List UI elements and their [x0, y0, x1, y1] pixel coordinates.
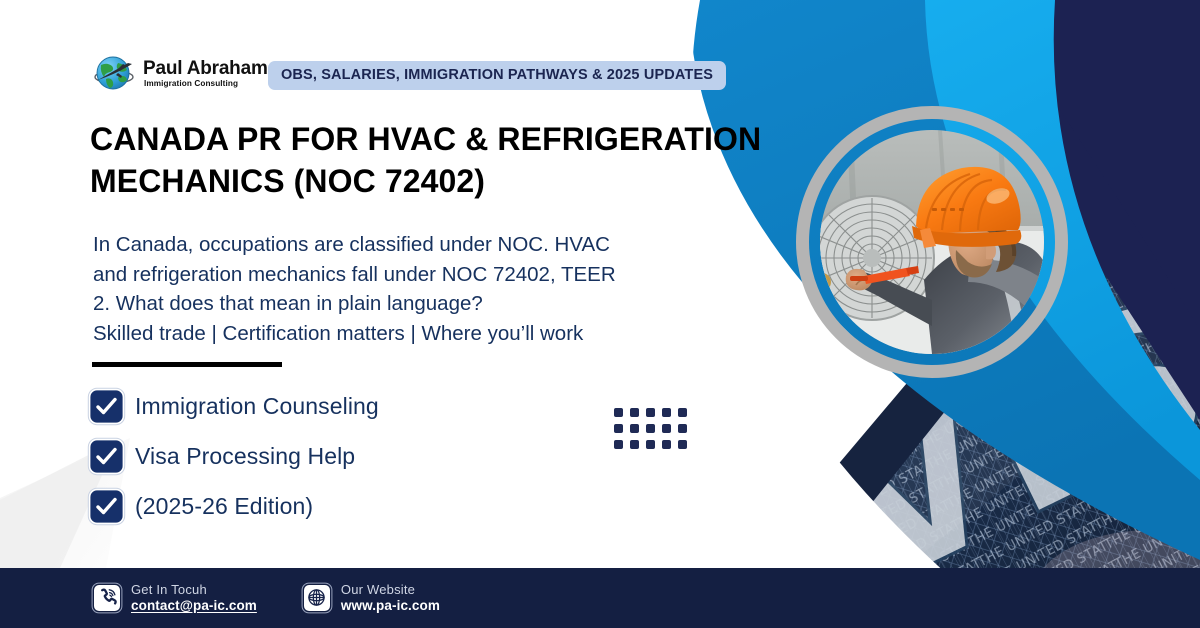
description-text: In Canada, occupations are classified un…: [93, 230, 733, 348]
footer-website-label: Our Website: [341, 583, 440, 598]
feature-checklist: Immigration Counseling Visa Processing H…: [92, 382, 379, 532]
brand-logo[interactable]: Paul Abraham Immigration Consulting: [92, 50, 268, 98]
list-item-label: Immigration Counseling: [135, 393, 379, 420]
phone-icon: [94, 585, 120, 611]
topic-badge-label: OBS, SALARIES, IMMIGRATION PATHWAYS & 20…: [281, 67, 713, 83]
topic-badge: OBS, SALARIES, IMMIGRATION PATHWAYS & 20…: [268, 61, 726, 90]
list-item[interactable]: Immigration Counseling: [92, 382, 379, 431]
globe-airplane-icon: [92, 52, 136, 96]
footer-website-url[interactable]: www.pa-ic.com: [341, 598, 440, 614]
brand-tagline: Immigration Consulting: [144, 80, 268, 88]
footer-contact-email[interactable]: contact@pa-ic.com: [131, 598, 257, 614]
list-item[interactable]: Visa Processing Help: [92, 432, 379, 481]
list-item-label: Visa Processing Help: [135, 443, 355, 470]
social-banner: THE UNITED STATES OF AMERICA: [0, 0, 1200, 628]
footer-contact[interactable]: Get In Tocuh contact@pa-ic.com: [94, 583, 257, 613]
dot-grid-decoration: [614, 408, 690, 452]
footer-contact-label: Get In Tocuh: [131, 583, 257, 598]
check-icon: [92, 392, 121, 421]
check-icon: [92, 492, 121, 521]
section-divider: [92, 362, 282, 367]
hero-photo: [820, 130, 1044, 354]
list-item-label: (2025-26 Edition): [135, 493, 313, 520]
check-icon: [92, 442, 121, 471]
brand-name: Paul Abraham: [143, 59, 268, 78]
page-title: CANADA PR FOR HVAC & REFRIGERATION MECHA…: [90, 118, 770, 202]
footer-bar: Get In Tocuh contact@pa-ic.com Our Websi…: [0, 568, 1200, 628]
footer-website[interactable]: Our Website www.pa-ic.com: [304, 583, 440, 613]
globe-icon: [304, 585, 330, 611]
list-item[interactable]: (2025-26 Edition): [92, 482, 379, 531]
